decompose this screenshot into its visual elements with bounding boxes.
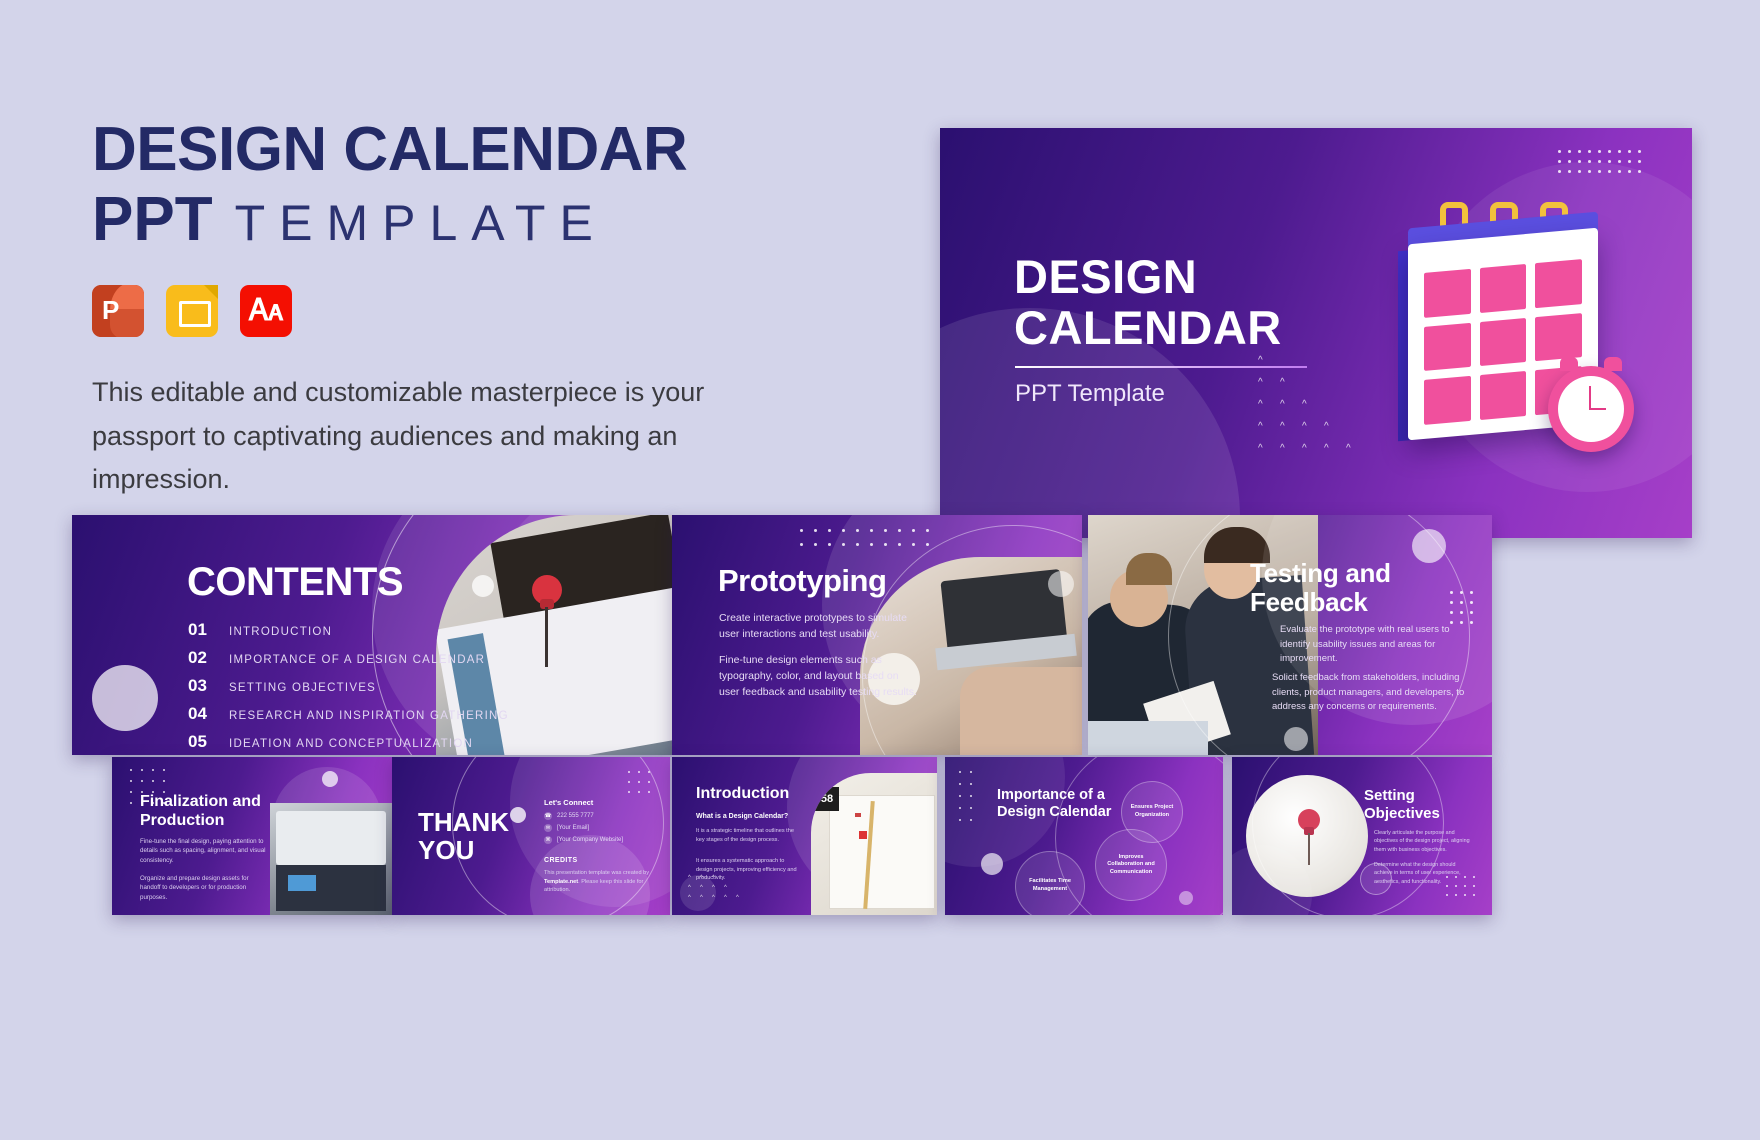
- introduction-slide[interactable]: 58 ^^^ ^^^^ ^^^^^ Introduction What is a…: [672, 757, 937, 915]
- email-icon: ✉: [544, 824, 552, 832]
- thank-you-slide[interactable]: THANK YOU Let's Connect ☎ 222 555 7777 ✉…: [392, 757, 670, 915]
- credits-brand[interactable]: Template.net: [544, 879, 578, 885]
- contents-item-label: RESEARCH AND INSPIRATION GATHERING: [229, 710, 509, 722]
- contents-item-number: 01: [188, 620, 212, 640]
- prototyping-slide[interactable]: Prototyping Create interactive prototype…: [672, 515, 1082, 755]
- contents-title: CONTENTS: [187, 560, 403, 605]
- phone-icon: ☎: [544, 812, 552, 820]
- hero-slide[interactable]: ^^^ ^^^ ^^^^ ^^^^^ DESIGN C: [940, 128, 1692, 538]
- importance-title: Importance of a Design Calendar: [997, 787, 1117, 822]
- list-item[interactable]: 05 IDEATION AND CONCEPTUALIZATION: [188, 732, 538, 752]
- contents-item-label: IMPORTANCE OF A DESIGN CALENDAR: [229, 654, 485, 666]
- contents-item-number: 05: [188, 732, 212, 752]
- hero-title: DESIGN CALENDAR: [1014, 252, 1282, 354]
- hero-divider: [1015, 366, 1307, 368]
- list-item[interactable]: 04 RESEARCH AND INSPIRATION GATHERING: [188, 704, 538, 724]
- contents-item-label: IDEATION AND CONCEPTUALIZATION: [229, 738, 473, 750]
- header-block: DESIGN CALENDAR PPT TEMPLATE P 🗛 This ed…: [92, 118, 792, 502]
- thank-you-title-line2: YOU: [418, 837, 509, 865]
- credits-heading: CREDITS: [544, 857, 578, 864]
- importance-bubble-3[interactable]: Facilitates Time Management: [1015, 851, 1085, 915]
- introduction-title: Introduction: [696, 785, 789, 803]
- pdf-icon[interactable]: 🗛: [240, 285, 292, 337]
- pushpin-photo: [1246, 775, 1368, 897]
- thank-you-title-line1: THANK: [418, 809, 509, 837]
- finalization-paragraph-1: Fine-tune the final design, paying atten…: [140, 837, 268, 865]
- page-title-line2: PPT TEMPLATE: [92, 188, 792, 252]
- prototyping-title: Prototyping: [718, 563, 886, 599]
- website-icon: ⌘: [544, 836, 552, 844]
- contact-website-value: [Your Company Website]: [557, 837, 623, 843]
- dot-grid-decor: [959, 771, 981, 831]
- clock-icon: [1548, 366, 1634, 452]
- hero-title-line1: DESIGN: [1014, 252, 1282, 303]
- calendar-illustration: [1380, 194, 1630, 462]
- contents-slide[interactable]: CONTENTS 01 INTRODUCTION 02 IMPORTANCE O…: [72, 515, 672, 755]
- importance-bubble-2[interactable]: Improves Collaboration and Communication: [1095, 829, 1167, 901]
- page-title-line1: DESIGN CALENDAR: [92, 118, 792, 182]
- calendar-photo: 58: [811, 773, 937, 915]
- introduction-paragraph-1: It is a strategic timeline that outlines…: [696, 827, 801, 844]
- page-title-ppt: PPT: [92, 188, 213, 252]
- list-item[interactable]: 02 IMPORTANCE OF A DESIGN CALENDAR: [188, 648, 538, 668]
- format-icons: P 🗛: [92, 285, 792, 337]
- testing-paragraph-1: Evaluate the prototype with real users t…: [1280, 623, 1470, 667]
- finalization-slide[interactable]: Finalization and Production Fine-tune th…: [112, 757, 392, 915]
- objectives-paragraph-2: Determine what the design should achieve…: [1374, 861, 1474, 886]
- page-title-template: TEMPLATE: [235, 197, 607, 249]
- contact-phone-value: 222 555 7777: [557, 813, 594, 819]
- contents-list: 01 INTRODUCTION 02 IMPORTANCE OF A DESIG…: [188, 620, 538, 755]
- objectives-paragraph-1: Clearly articulate the purpose and objec…: [1374, 829, 1474, 854]
- page-root: DESIGN CALENDAR PPT TEMPLATE P 🗛 This ed…: [0, 0, 1760, 1140]
- thank-you-title: THANK YOU: [418, 809, 509, 864]
- testing-title: Testing and Feedback: [1250, 559, 1470, 617]
- introduction-subheading: What is a Design Calendar?: [696, 813, 788, 820]
- lets-connect-heading: Let's Connect: [544, 798, 593, 807]
- credits-body: This presentation template was created b…: [544, 869, 656, 895]
- contact-email-value: [Your Email]: [557, 825, 589, 831]
- importance-slide[interactable]: Importance of a Design Calendar Ensures …: [945, 757, 1223, 915]
- powerpoint-icon[interactable]: P: [92, 285, 144, 337]
- contents-item-number: 04: [188, 704, 212, 724]
- google-slides-icon[interactable]: [166, 285, 218, 337]
- credits-body-pre: This presentation template was created b…: [544, 870, 649, 876]
- contents-item-label: INTRODUCTION: [229, 626, 332, 638]
- dot-grid-decor: [1558, 150, 1648, 180]
- decor-circle: [322, 771, 338, 787]
- introduction-paragraph-2: It ensures a systematic approach to desi…: [696, 857, 801, 883]
- decor-circle: [1179, 891, 1193, 905]
- prototyping-paragraph-2: Fine-tune design elements such as typogr…: [719, 653, 919, 700]
- hero-title-line2: CALENDAR: [1014, 303, 1282, 354]
- dot-grid-decor: [800, 529, 940, 557]
- finalization-paragraph-2: Organize and prepare design assets for h…: [140, 874, 268, 902]
- prototyping-paragraph-1: Create interactive prototypes to simulat…: [719, 611, 914, 643]
- powerpoint-icon-letter: P: [102, 297, 119, 323]
- decor-circle: [92, 665, 158, 731]
- contact-website[interactable]: ⌘ [Your Company Website]: [544, 836, 654, 844]
- dot-grid-decor: [628, 771, 658, 801]
- contents-item-number: 03: [188, 676, 212, 696]
- page-description: This editable and customizable masterpie…: [92, 371, 792, 502]
- contents-item-number: 02: [188, 648, 212, 668]
- list-item[interactable]: 01 INTRODUCTION: [188, 620, 538, 640]
- decor-circle: [981, 853, 1003, 875]
- contact-email[interactable]: ✉ [Your Email]: [544, 824, 654, 832]
- decor-circle: [1412, 529, 1446, 563]
- objectives-title: Setting Objectives: [1364, 787, 1474, 822]
- testing-feedback-slide[interactable]: Testing and Feedback Evaluate the protot…: [1088, 515, 1492, 755]
- hero-subtitle: PPT Template: [1015, 380, 1165, 408]
- list-item[interactable]: 03 SETTING OBJECTIVES: [188, 676, 538, 696]
- finalization-title: Finalization and Production: [140, 793, 290, 831]
- contents-item-label: SETTING OBJECTIVES: [229, 682, 376, 694]
- contact-list: ☎ 222 555 7777 ✉ [Your Email] ⌘ [Your Co…: [544, 812, 654, 848]
- setting-objectives-slide[interactable]: Setting Objectives Clearly articulate th…: [1232, 757, 1492, 915]
- contact-phone[interactable]: ☎ 222 555 7777: [544, 812, 654, 820]
- decor-circle: [510, 807, 526, 823]
- testing-paragraph-2: Solicit feedback from stakeholders, incl…: [1272, 671, 1470, 715]
